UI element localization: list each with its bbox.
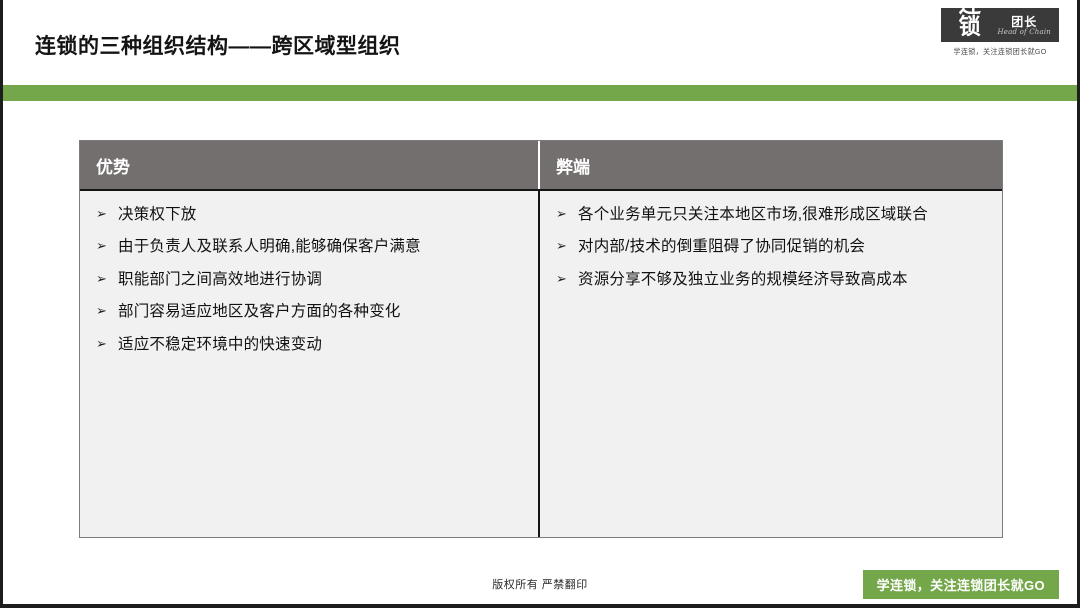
logo-main-text: 连锁 xyxy=(949,0,991,38)
list-item: ➢ 资源分享不够及独立业务的规模经济导致高成本 xyxy=(552,270,990,289)
list-item: ➢ 各个业务单元只关注本地区市场,很难形成区域联合 xyxy=(552,205,990,224)
comparison-table: 优势 弊端 ➢ 决策权下放 ➢ 由于负责人及联系人明确,能够确保客户满意 ➢ xyxy=(79,140,1003,538)
promo-banner: 学连锁，关注连锁团长就GO xyxy=(863,570,1059,599)
advantages-cell: ➢ 决策权下放 ➢ 由于负责人及联系人明确,能够确保客户满意 ➢ 职能部门之间高… xyxy=(80,191,540,537)
table-header-row: 优势 弊端 xyxy=(80,141,1002,191)
brand-logo: 连锁 团长 Head of Chain 学连锁，关注连锁团长就GO xyxy=(941,8,1059,57)
list-item-label: 各个业务单元只关注本地区市场,很难形成区域联合 xyxy=(578,205,990,224)
list-item-label: 适应不稳定环境中的快速变动 xyxy=(118,335,526,354)
list-item-label: 资源分享不够及独立业务的规模经济导致高成本 xyxy=(578,270,990,289)
logo-sub-text: 团长 xyxy=(1011,16,1037,28)
arrow-bullet-icon: ➢ xyxy=(92,335,118,353)
arrow-bullet-icon: ➢ xyxy=(92,237,118,255)
list-item: ➢ 由于负责人及联系人明确,能够确保客户满意 xyxy=(92,237,526,256)
logo-sub-group: 团长 Head of Chain xyxy=(997,16,1051,38)
logo-tagline: 学连锁，关注连锁团长就GO xyxy=(944,46,1056,56)
table-body-row: ➢ 决策权下放 ➢ 由于负责人及联系人明确,能够确保客户满意 ➢ 职能部门之间高… xyxy=(80,191,1002,537)
arrow-bullet-icon: ➢ xyxy=(92,270,118,288)
arrow-bullet-icon: ➢ xyxy=(552,205,578,223)
list-item: ➢ 职能部门之间高效地进行协调 xyxy=(92,270,526,289)
list-item: ➢ 部门容易适应地区及客户方面的各种变化 xyxy=(92,302,526,321)
green-divider-bar xyxy=(3,85,1077,101)
list-item-label: 对内部/技术的倒重阻碍了协同促销的机会 xyxy=(578,237,990,256)
list-item-label: 决策权下放 xyxy=(118,205,526,224)
column-header-disadvantages: 弊端 xyxy=(540,141,1002,189)
slide-header: 连锁的三种组织结构——跨区域型组织 连锁 团长 Head of Chain 学连… xyxy=(3,0,1077,85)
advantages-list: ➢ 决策权下放 ➢ 由于负责人及联系人明确,能够确保客户满意 ➢ 职能部门之间高… xyxy=(92,205,526,354)
bottom-rule xyxy=(3,604,1077,608)
page-title: 连锁的三种组织结构——跨区域型组织 xyxy=(35,30,401,60)
arrow-bullet-icon: ➢ xyxy=(92,205,118,223)
disadvantages-cell: ➢ 各个业务单元只关注本地区市场,很难形成区域联合 ➢ 对内部/技术的倒重阻碍了… xyxy=(540,191,1002,537)
arrow-bullet-icon: ➢ xyxy=(552,237,578,255)
logo-box: 连锁 团长 Head of Chain xyxy=(941,8,1059,42)
list-item: ➢ 适应不稳定环境中的快速变动 xyxy=(92,335,526,354)
list-item-label: 职能部门之间高效地进行协调 xyxy=(118,270,526,289)
list-item-label: 部门容易适应地区及客户方面的各种变化 xyxy=(118,302,526,321)
disadvantages-list: ➢ 各个业务单元只关注本地区市场,很难形成区域联合 ➢ 对内部/技术的倒重阻碍了… xyxy=(552,205,990,289)
logo-english-text: Head of Chain xyxy=(997,28,1051,37)
list-item: ➢ 对内部/技术的倒重阻碍了协同促销的机会 xyxy=(552,237,990,256)
list-item: ➢ 决策权下放 xyxy=(92,205,526,224)
list-item-label: 由于负责人及联系人明确,能够确保客户满意 xyxy=(118,237,526,256)
arrow-bullet-icon: ➢ xyxy=(552,270,578,288)
column-header-advantages: 优势 xyxy=(80,141,540,189)
arrow-bullet-icon: ➢ xyxy=(92,302,118,320)
slide-canvas: 连锁的三种组织结构——跨区域型组织 连锁 团长 Head of Chain 学连… xyxy=(0,0,1080,608)
